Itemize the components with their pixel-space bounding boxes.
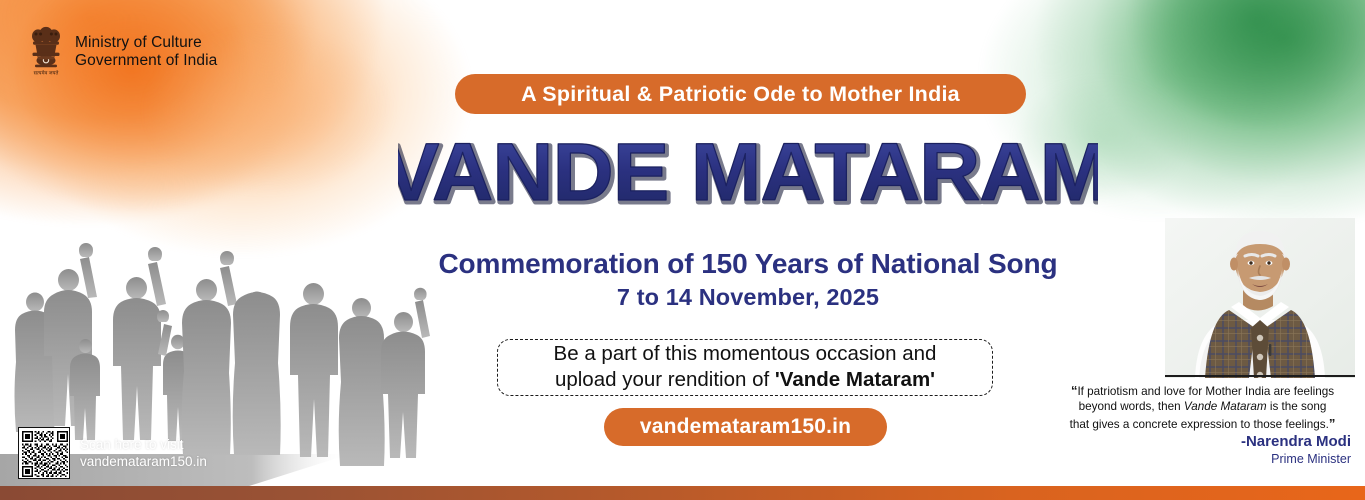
quote-attribution-name: -Narendra Modi bbox=[1051, 433, 1351, 450]
cta-line-2: upload your rendition of 'Vande Mataram' bbox=[555, 368, 935, 393]
qr-caption-line-1: Scan here to visit bbox=[80, 436, 207, 453]
quote-line-3: that gives a concrete expression to thos… bbox=[1070, 418, 1329, 431]
cta-line-2-prefix: upload your rendition of bbox=[555, 368, 775, 391]
green-watercolor-wash-inner bbox=[1065, 0, 1365, 160]
subtitle-commemoration: Commemoration of 150 Years of National S… bbox=[398, 248, 1098, 280]
quote-divider-rule bbox=[1165, 375, 1355, 377]
tagline-badge: A Spiritual & Patriotic Ode to Mother In… bbox=[455, 74, 1026, 114]
quote-close-mark: ” bbox=[1329, 416, 1336, 431]
qr-scan-block[interactable]: Scan here to visit vandemataram150.in bbox=[18, 427, 207, 479]
ministry-logo-lockup: सत्यमेव जयते Ministry of Culture Governm… bbox=[26, 26, 217, 78]
page-title: VANDE MATARAM VANDE MATARAM bbox=[398, 129, 1098, 221]
ministry-name: Ministry of Culture Government of India bbox=[75, 34, 217, 70]
quote-line-2-italic: Vande Mataram bbox=[1184, 400, 1267, 413]
cta-line-2-highlight: 'Vande Mataram' bbox=[775, 368, 935, 391]
cta-line-1: Be a part of this momentous occasion and bbox=[554, 342, 937, 367]
narendra-modi-portrait-icon bbox=[1165, 218, 1355, 378]
cta-box: Be a part of this momentous occasion and… bbox=[497, 339, 993, 396]
qr-caption-line-2: vandemataram150.in bbox=[80, 453, 207, 470]
quote-line-1: If patriotism and love for Mother India … bbox=[1077, 385, 1334, 398]
vande-mataram-banner: सत्यमेव जयते Ministry of Culture Governm… bbox=[0, 0, 1365, 500]
bottom-accent-bar bbox=[0, 486, 1365, 500]
website-url-button[interactable]: vandemataram150.in bbox=[604, 408, 887, 446]
ministry-line-2: Government of India bbox=[75, 52, 217, 70]
qr-caption: Scan here to visit vandemataram150.in bbox=[80, 436, 207, 471]
quote-line-2-prefix: beyond words, then bbox=[1079, 400, 1184, 413]
subtitle-dates: 7 to 14 November, 2025 bbox=[398, 284, 1098, 311]
ashoka-lion-capital-emblem-icon: सत्यमेव जयते bbox=[26, 26, 66, 78]
page-title-text: VANDE MATARAM bbox=[398, 129, 1098, 218]
qr-code-icon[interactable] bbox=[18, 427, 70, 479]
emblem-motto: सत्यमेव जयते bbox=[34, 70, 59, 77]
quote-line-2-suffix: is the song bbox=[1267, 400, 1327, 413]
modi-quote: “If patriotism and love for Mother India… bbox=[1050, 382, 1355, 432]
ministry-line-1: Ministry of Culture bbox=[75, 34, 217, 52]
quote-attribution-designation: Prime Minister bbox=[1051, 452, 1351, 466]
